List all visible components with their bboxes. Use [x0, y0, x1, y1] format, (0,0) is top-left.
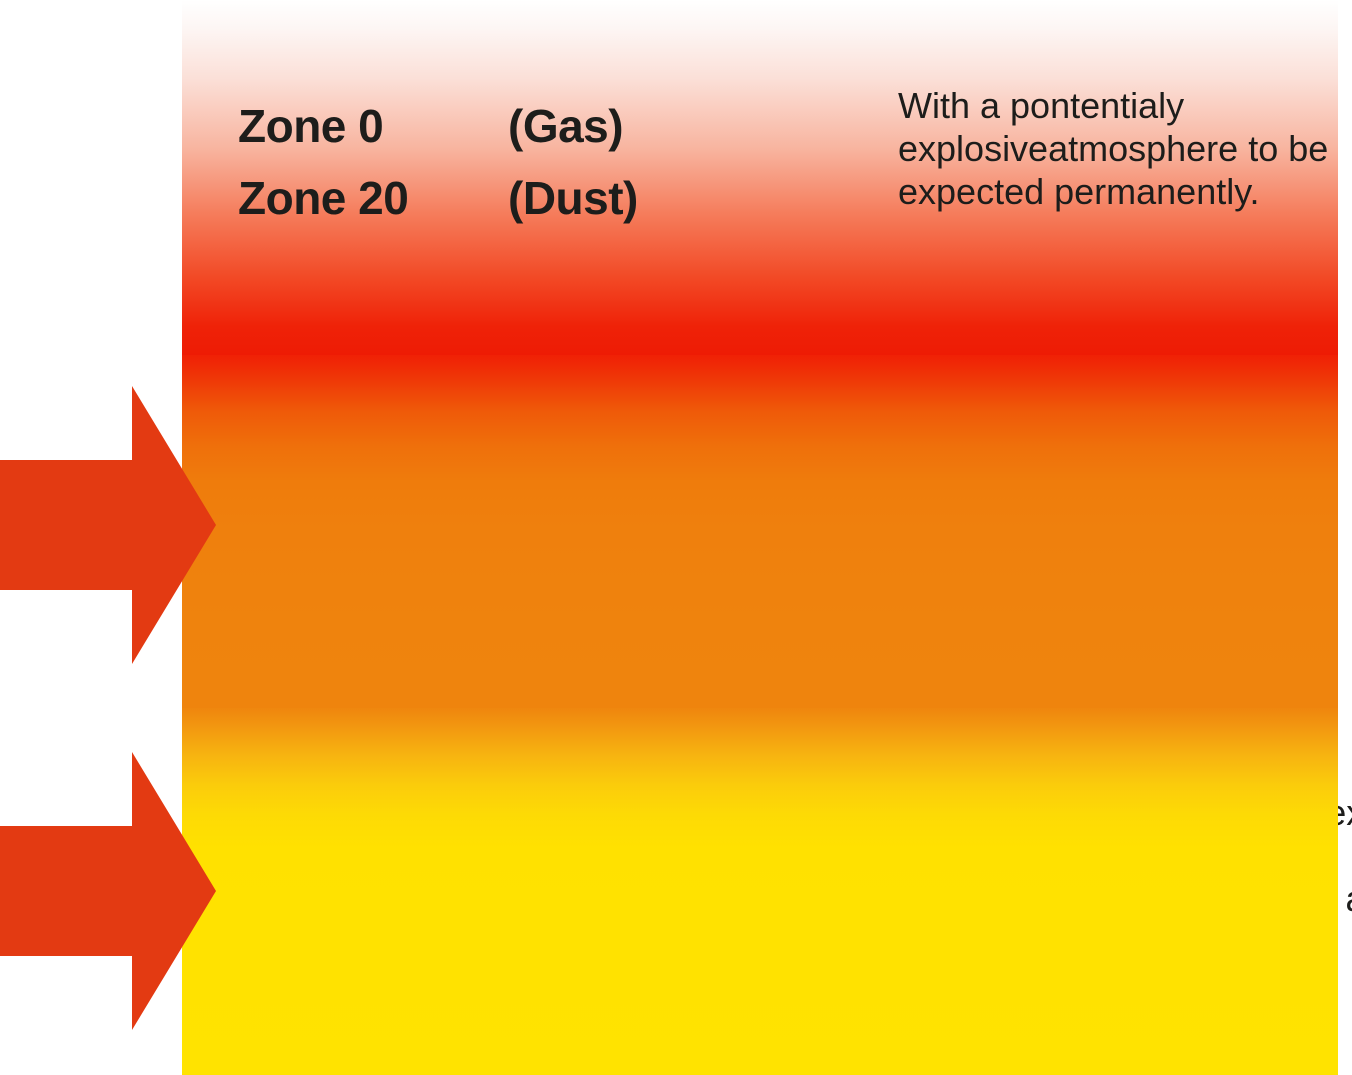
zone-dust-media-zone0: (Dust) — [508, 175, 638, 221]
zone-panel-zone2: Zone 2 (Gas) Zone 22 (Dust) The formatio… — [182, 708, 1338, 1075]
zone-dust-name-zone0: Zone 20 — [238, 175, 508, 221]
right-arrow-icon — [0, 752, 216, 1030]
zone-description-zone0: With a pontentialy explosiveatmosphere t… — [898, 84, 1352, 214]
right-arrow-icon — [0, 386, 216, 664]
zone-gas-line-zone0: Zone 0 (Gas) — [238, 103, 638, 149]
zone-panel-zone1: Zone 1 (Gas) Zone 21 (Dust) It is to be … — [182, 355, 1338, 708]
zone-panel-zone0: Zone 0 (Gas) Zone 20 (Dust) With a ponte… — [182, 0, 1338, 355]
zone-gas-name-zone0: Zone 0 — [238, 103, 508, 149]
zone-label-zone0: Zone 0 (Gas) Zone 20 (Dust) — [238, 103, 638, 221]
zone-dust-line-zone0: Zone 20 (Dust) — [238, 175, 638, 221]
zone-gas-media-zone0: (Gas) — [508, 103, 623, 149]
zone-classification-diagram: Zone 0 (Gas) Zone 20 (Dust) With a ponte… — [0, 0, 1352, 1075]
